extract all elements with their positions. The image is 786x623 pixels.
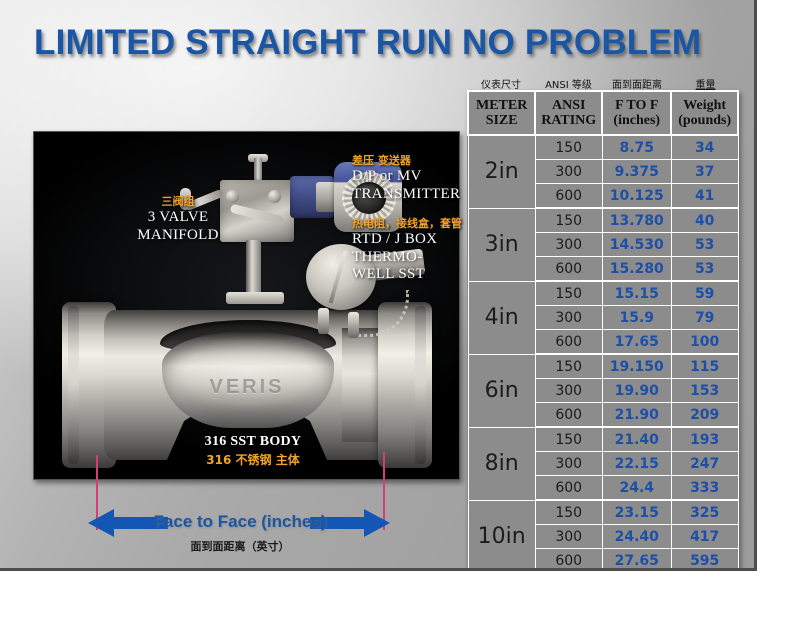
cell-ansi-rating: 150 [535, 500, 602, 525]
manifold-stem [246, 240, 261, 298]
col-header-ansi-rating: ANSI RATING [535, 91, 602, 135]
label-rtd-jbox: 热电阻，接线盒，套管 RTD / J BOX THERMO- WELL SST [352, 218, 482, 284]
label-transmitter-en-line2: TRANSMITTER [352, 186, 482, 204]
neck-right [342, 328, 382, 442]
cell-weight: 193 [671, 427, 738, 452]
label-manifold-cn: 三阀组 [108, 196, 248, 209]
cell-ansi-rating: 600 [535, 403, 602, 428]
cell-face-to-face: 14.530 [602, 233, 671, 257]
cell-weight: 595 [671, 549, 738, 572]
cell-face-to-face: 21.90 [602, 403, 671, 428]
cell-weight: 209 [671, 403, 738, 428]
thermowell-bolt [318, 308, 329, 334]
cell-face-to-face: 22.15 [602, 452, 671, 476]
col-header-face-to-face-l2: (inches) [603, 113, 670, 128]
cell-ansi-rating: 600 [535, 257, 602, 282]
cell-ansi-rating: 150 [535, 354, 602, 379]
col-header-face-to-face: F TO F (inches) [602, 91, 671, 135]
cell-meter-size: 10in [468, 500, 535, 571]
col-header-weight-l1: Weight [672, 98, 737, 113]
cell-face-to-face: 27.65 [602, 549, 671, 572]
page-title: LIMITED STRAIGHT RUN NO PROBLEM [34, 23, 504, 71]
label-manifold-en-line2: MANIFOLD [108, 227, 248, 245]
spec-table-zone: 仪表尺寸 ANSI 等级 面到面距离 重量 METER SIZE ANSI RA… [467, 90, 739, 555]
table-header-row: METER SIZE ANSI RATING F TO F (inches) W… [468, 91, 738, 135]
label-rtd-cn: 热电阻，接线盒，套管 [352, 218, 482, 231]
cell-ansi-rating: 300 [535, 525, 602, 549]
cn-header-weight: 重量 [672, 76, 739, 90]
cell-ansi-rating: 150 [535, 208, 602, 233]
thermowell-bolt [348, 312, 359, 338]
manifold-base-flange [226, 292, 284, 304]
manifold-bolt [268, 190, 281, 203]
label-body-cn: 316 不锈钢 主体 [168, 453, 338, 467]
cell-weight: 34 [671, 135, 738, 160]
cell-weight: 247 [671, 452, 738, 476]
cell-face-to-face: 23.15 [602, 500, 671, 525]
cell-ansi-rating: 300 [535, 233, 602, 257]
cell-face-to-face: 24.4 [602, 476, 671, 501]
cell-face-to-face: 24.40 [602, 525, 671, 549]
cell-ansi-rating: 300 [535, 452, 602, 476]
table-body: 2in1508.75343009.3753760010.125413in1501… [468, 135, 738, 571]
cell-weight: 325 [671, 500, 738, 525]
label-manifold-en-line1: 3 VALVE [108, 209, 248, 227]
cell-meter-size: 6in [468, 354, 535, 427]
table-row: 10in15023.15325 [468, 500, 738, 525]
col-header-meter-size-l1: METER [469, 98, 534, 113]
cell-weight: 100 [671, 330, 738, 355]
cell-ansi-rating: 600 [535, 330, 602, 355]
cell-ansi-rating: 150 [535, 135, 602, 160]
cell-face-to-face: 8.75 [602, 135, 671, 160]
presentation-slide: LIMITED STRAIGHT RUN NO PROBLEM VERIS [0, 0, 757, 571]
cell-face-to-face: 19.150 [602, 354, 671, 379]
cn-header-weight-text: 重量 [696, 76, 716, 91]
cell-weight: 153 [671, 379, 738, 403]
cell-weight: 53 [671, 257, 738, 282]
col-header-ansi-rating-l2: RATING [536, 113, 601, 128]
cell-weight: 333 [671, 476, 738, 501]
cell-ansi-rating: 300 [535, 160, 602, 184]
table-row: 8in15021.40193 [468, 427, 738, 452]
cell-face-to-face: 21.40 [602, 427, 671, 452]
cell-ansi-rating: 300 [535, 379, 602, 403]
cell-weight: 115 [671, 354, 738, 379]
cell-face-to-face: 13.780 [602, 208, 671, 233]
cell-face-to-face: 15.280 [602, 257, 671, 282]
cell-weight: 79 [671, 306, 738, 330]
label-316-sst-body: 316 SST BODY 316 不锈钢 主体 [168, 434, 338, 467]
cell-weight: 40 [671, 208, 738, 233]
col-header-weight: Weight (pounds) [671, 91, 738, 135]
col-header-meter-size-l2: SIZE [469, 113, 534, 128]
cell-ansi-rating: 600 [535, 184, 602, 209]
table-row: 2in1508.7534 [468, 135, 738, 160]
cell-ansi-rating: 150 [535, 281, 602, 306]
label-body-en: 316 SST BODY [168, 434, 338, 451]
cell-meter-size: 8in [468, 427, 535, 500]
cell-face-to-face: 9.375 [602, 160, 671, 184]
table-chinese-headers: 仪表尺寸 ANSI 等级 面到面距离 重量 [467, 76, 739, 90]
cn-header-face-to-face: 面到面距离 [602, 76, 672, 90]
col-header-meter-size: METER SIZE [468, 91, 535, 135]
label-rtd-en-line1: RTD / J BOX [352, 231, 482, 249]
col-header-ansi-rating-l1: ANSI [536, 98, 601, 113]
col-header-face-to-face-l1: F TO F [603, 98, 670, 113]
label-transmitter: 差压 变送器 D/P or MV TRANSMITTER [352, 155, 482, 203]
face-to-face-caption-en: Face to Face (inches) [140, 512, 340, 532]
table-row: 6in15019.150115 [468, 354, 738, 379]
cn-header-ansi-rating: ANSI 等级 [535, 76, 602, 90]
cell-face-to-face: 15.9 [602, 306, 671, 330]
specification-table: METER SIZE ANSI RATING F TO F (inches) W… [467, 90, 739, 571]
label-rtd-en-line2: THERMO- [352, 249, 482, 267]
label-transmitter-en-line1: D/P or MV [352, 168, 482, 186]
cell-face-to-face: 17.65 [602, 330, 671, 355]
cell-weight: 37 [671, 160, 738, 184]
cell-weight: 41 [671, 184, 738, 209]
cell-weight: 53 [671, 233, 738, 257]
face-to-face-caption-cn: 面到面距离（英寸） [140, 538, 340, 554]
table-row: 4in15015.1559 [468, 281, 738, 306]
cell-ansi-rating: 300 [535, 306, 602, 330]
cell-ansi-rating: 600 [535, 549, 602, 572]
cell-ansi-rating: 150 [535, 427, 602, 452]
table-row: 3in15013.78040 [468, 208, 738, 233]
cell-weight: 417 [671, 525, 738, 549]
label-transmitter-cn: 差压 变送器 [352, 155, 482, 168]
cell-face-to-face: 15.15 [602, 281, 671, 306]
cell-weight: 59 [671, 281, 738, 306]
cell-ansi-rating: 600 [535, 476, 602, 501]
cell-meter-size: 4in [468, 281, 535, 354]
cell-face-to-face: 10.125 [602, 184, 671, 209]
cn-header-meter-size: 仪表尺寸 [467, 76, 535, 90]
cover-chain-icon [352, 290, 409, 337]
cell-face-to-face: 19.90 [602, 379, 671, 403]
col-header-weight-l2: (pounds) [672, 113, 737, 128]
label-valve-manifold: 三阀组 3 VALVE MANIFOLD [108, 196, 248, 244]
label-rtd-en-line3: WELL SST [352, 266, 482, 284]
